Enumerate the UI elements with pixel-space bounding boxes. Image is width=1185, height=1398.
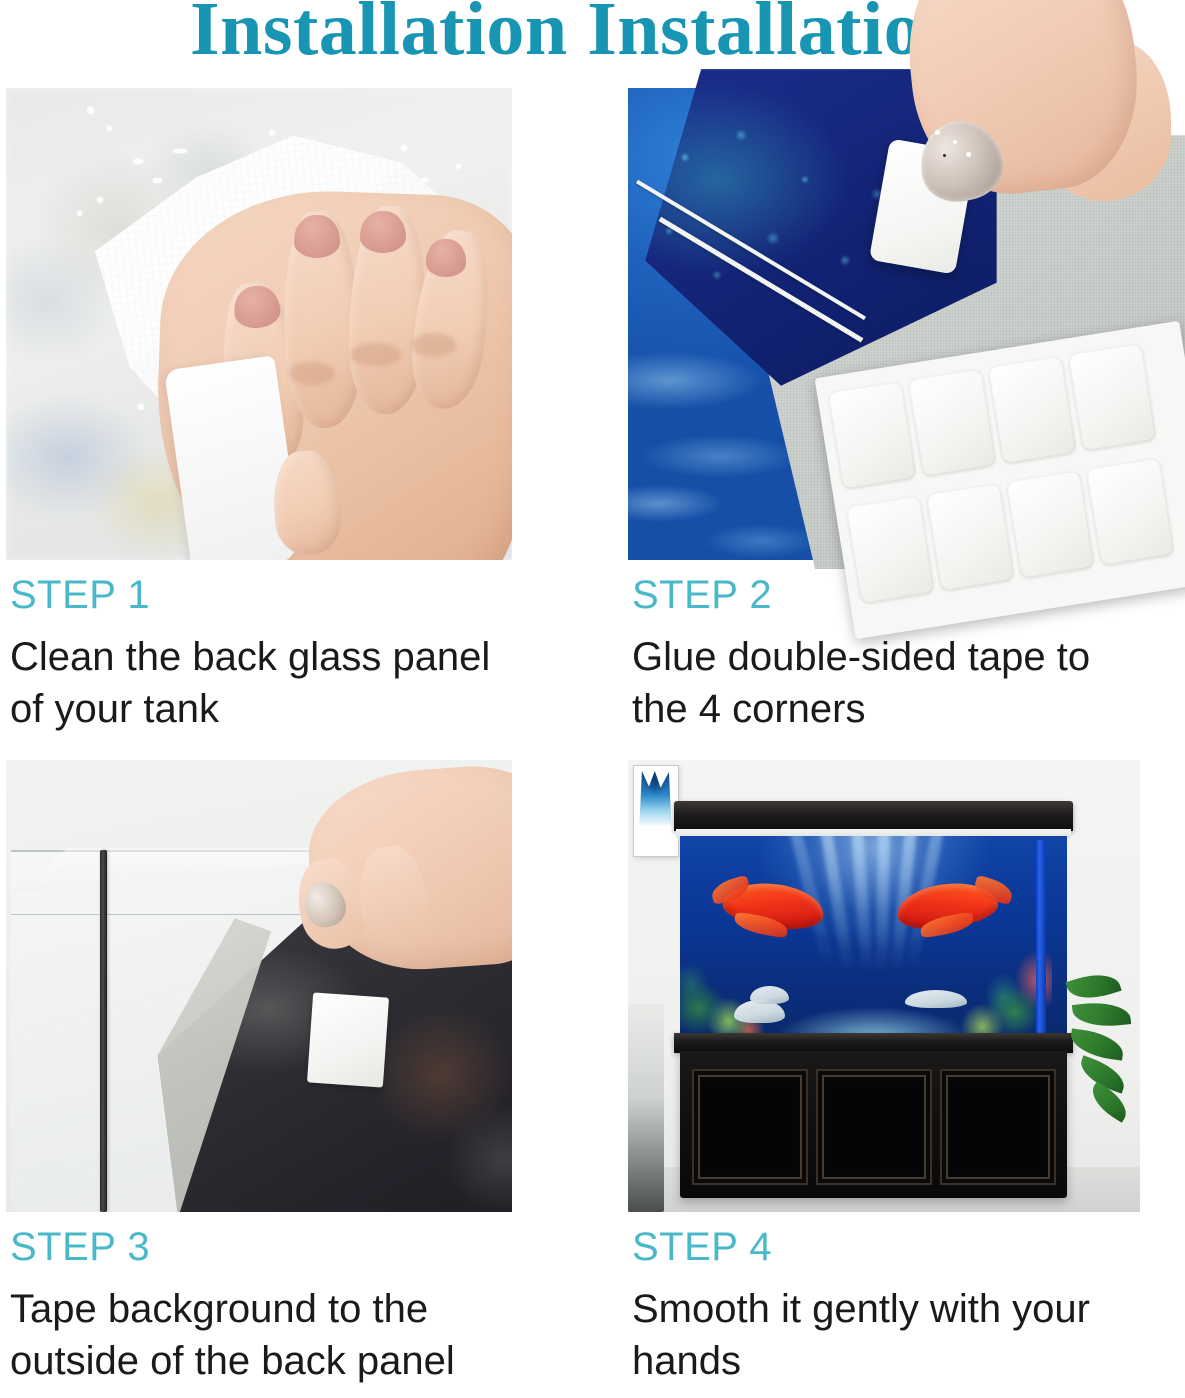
aquarium-unit (674, 801, 1073, 1199)
photo-finished-tank (628, 760, 1140, 1212)
fingernail (426, 239, 466, 277)
nail-dot (943, 154, 946, 157)
water-speck (77, 211, 82, 216)
step-4-caption: STEP 4 Smooth it gently with your hands (632, 1226, 1137, 1387)
cabinet-stand (680, 1051, 1067, 1198)
step-1-label: STEP 1 (10, 574, 510, 616)
water-speck (107, 126, 112, 131)
knuckle-crease (411, 333, 457, 357)
side-furniture (628, 1004, 664, 1212)
adhesive-pad (307, 992, 389, 1087)
tank-inner-line (11, 914, 325, 915)
step-4-description: Smooth it gently with your hands (632, 1284, 1137, 1386)
photo-tape-background (6, 760, 512, 1212)
adhesive-pad (828, 380, 916, 488)
knuckle-crease (350, 343, 401, 367)
cabinet-door-panel[interactable] (940, 1069, 1056, 1185)
wall-picture-frame (633, 765, 679, 857)
photo-clean-glass (6, 88, 512, 560)
water-speck (133, 159, 143, 164)
nail-glitter-speck (953, 140, 957, 144)
water-speck (401, 145, 407, 151)
nail-glitter-speck (966, 152, 971, 157)
plant-leaf (1066, 967, 1122, 1006)
knuckle-crease (289, 362, 335, 386)
step-card-3: STEP 3 Tape background to the outside of… (6, 760, 512, 1398)
adhesive-pad (1006, 470, 1094, 578)
aquarium-glass (680, 836, 1067, 1035)
fingernail (294, 215, 340, 257)
step-3-caption: STEP 3 Tape background to the outside of… (10, 1226, 510, 1387)
adhesive-pad (1086, 457, 1174, 565)
installation-steps-grid: STEP 1 Clean the back glass panel of you… (0, 0, 1185, 1398)
aquarium-hood (674, 801, 1073, 831)
adhesive-pad (908, 368, 996, 476)
step-card-4: STEP 4 Smooth it gently with your hands (628, 760, 1140, 1398)
tank-black-corner-trim (100, 850, 107, 1212)
rock (750, 986, 789, 1004)
plant-leaf (1068, 1029, 1125, 1061)
tank-base-trim (674, 1033, 1073, 1053)
blue-filter-tube (1036, 840, 1046, 1035)
step-2-caption: STEP 2 Glue double-sided tape to the 4 c… (632, 574, 1137, 735)
step-1-caption: STEP 1 Clean the back glass panel of you… (10, 574, 510, 735)
water-speck (153, 178, 162, 183)
cabinet-door-panel[interactable] (692, 1069, 808, 1185)
step-2-label: STEP 2 (632, 574, 1137, 616)
step-4-label: STEP 4 (632, 1226, 1137, 1268)
water-speck (138, 404, 144, 410)
fingernail (360, 211, 406, 253)
step-2-description: Glue double-sided tape to the 4 corners (632, 632, 1137, 734)
step-1-description: Clean the back glass panel of your tank (10, 632, 510, 734)
framed-artwork (639, 771, 671, 827)
cabinet-door-panel[interactable] (816, 1069, 932, 1185)
water-speck (456, 164, 461, 169)
light-ray (875, 836, 890, 971)
step-3-description: Tape background to the outside of the ba… (10, 1284, 510, 1386)
photo-apply-tape (628, 88, 1140, 560)
step-card-1: STEP 1 Clean the back glass panel of you… (6, 88, 512, 728)
adhesive-pad (988, 355, 1076, 463)
house-plant (1063, 968, 1140, 1122)
step-3-label: STEP 3 (10, 1226, 510, 1268)
water-speck (87, 107, 94, 114)
step-card-2: STEP 2 Glue double-sided tape to the 4 c… (628, 88, 1140, 728)
water-speck (97, 197, 103, 203)
plant-leaf (1072, 999, 1132, 1029)
adhesive-pad (1068, 342, 1156, 450)
